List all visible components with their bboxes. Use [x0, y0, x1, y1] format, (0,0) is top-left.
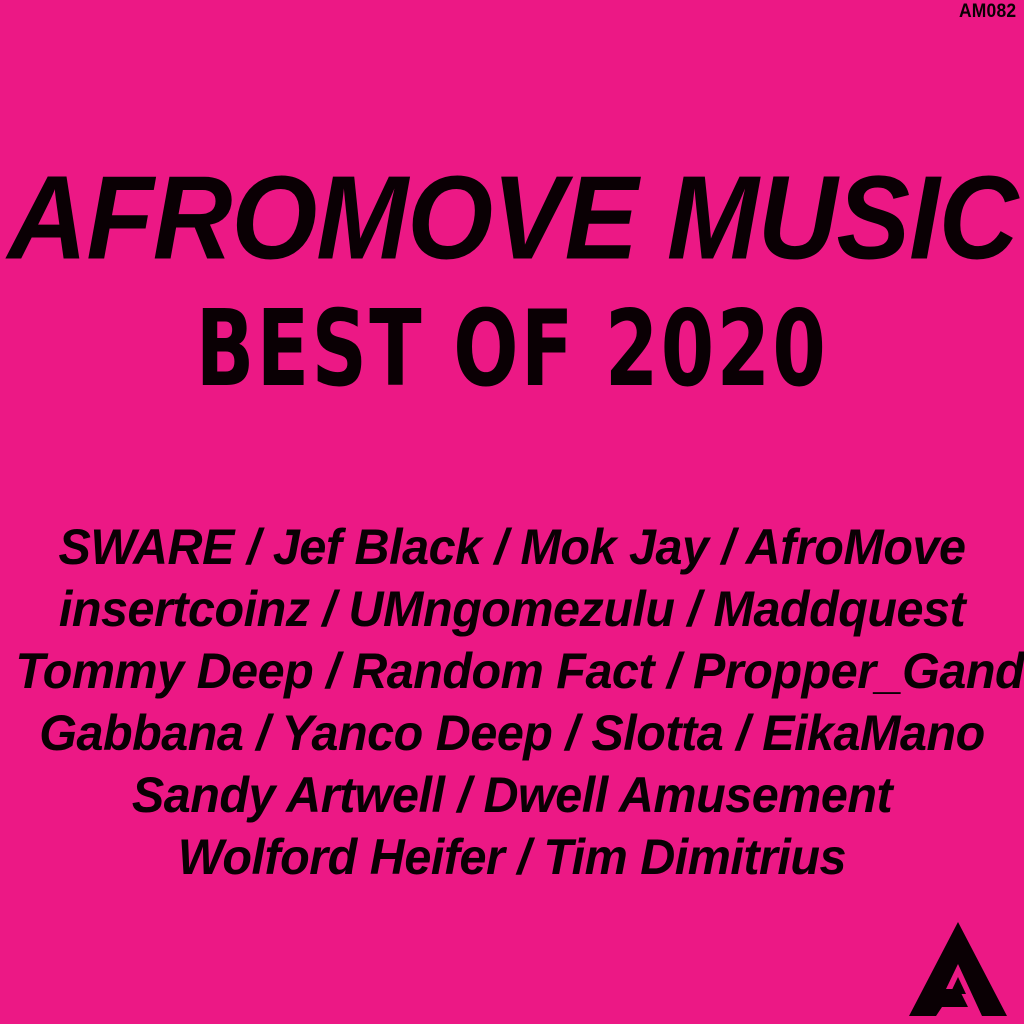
artist-line: SWARE / Jef Black / Mok Jay / AfroMove [15, 516, 1008, 578]
artist-line: Wolford Heifer / Tim Dimitrius [15, 826, 1008, 888]
afromove-a-logo-icon [906, 920, 1010, 1018]
album-subtitle: BEST OF 2020 [102, 296, 921, 402]
artist-line: Sandy Artwell / Dwell Amusement [15, 764, 1008, 826]
album-title: AFROMOVE MUSIC [8, 159, 1017, 278]
artist-line: Tommy Deep / Random Fact / Propper_Ganda [15, 640, 1008, 702]
artist-line: Gabbana / Yanco Deep / Slotta / EikaMano [15, 702, 1008, 764]
artist-list: SWARE / Jef Black / Mok Jay / AfroMove i… [0, 516, 1024, 888]
catalog-number: AM082 [959, 2, 1016, 21]
album-cover: AM082 AFROMOVE MUSIC BEST OF 2020 SWARE … [0, 0, 1024, 1024]
artist-line: insertcoinz / UMngomezulu / Maddquest [15, 578, 1008, 640]
